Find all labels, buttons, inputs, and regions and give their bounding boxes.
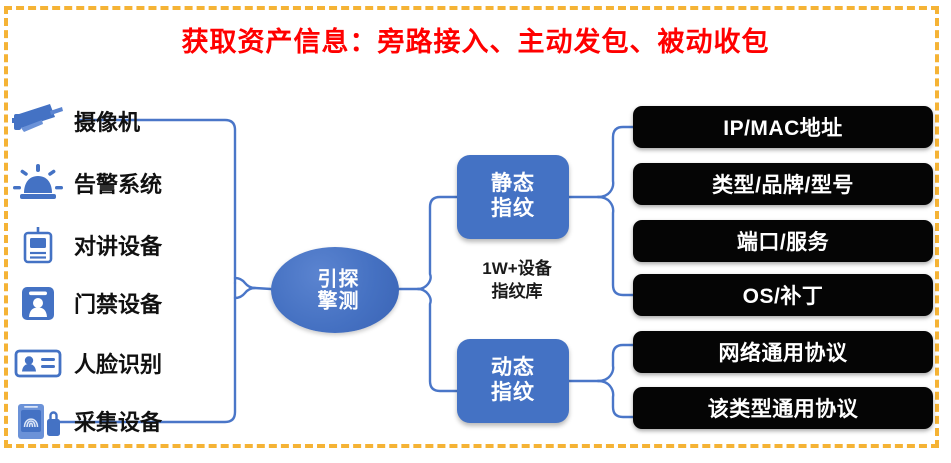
source-label: 人脸识别 xyxy=(74,347,162,379)
attribute-box-port-service[interactable]: 端口/服务 xyxy=(633,220,933,262)
attribute-box-type-protocol[interactable]: 该类型通用协议 xyxy=(633,387,933,429)
wire-trunk-to-engine-lower xyxy=(235,288,255,298)
fingerprint-library-caption: 1W+设备 指纹库 xyxy=(452,258,582,304)
source-label: 摄像机 xyxy=(74,105,140,137)
diagram-canvas: 获取资产信息：旁路接入、主动发包、被动收包 xyxy=(0,0,951,463)
wire-static-branch-down xyxy=(598,197,633,295)
attribute-box-os-patch[interactable]: OS/补丁 xyxy=(633,274,933,316)
wire-trunk-to-engine xyxy=(235,278,271,289)
detection-engine-node[interactable]: 探测引擎 xyxy=(271,247,399,333)
source-row-camera[interactable]: 摄像机 xyxy=(10,96,225,146)
source-row-access-control[interactable]: 门禁设备 xyxy=(10,278,225,328)
source-label: 采集设备 xyxy=(74,405,162,437)
source-label: 告警系统 xyxy=(74,167,162,199)
wire-split-lower xyxy=(418,289,457,391)
dynamic-fingerprint-line-1: 动态 xyxy=(491,356,535,381)
detection-engine-label: 探测引擎 xyxy=(314,267,356,313)
wire-dynamic-branch-down xyxy=(598,381,633,417)
source-row-intercom[interactable]: 对讲设备 xyxy=(10,220,225,270)
face-recognition-icon xyxy=(10,340,66,386)
static-fingerprint-line-2: 指纹 xyxy=(491,197,535,222)
diagram-title: 获取资产信息：旁路接入、主动发包、被动收包 xyxy=(0,20,951,59)
source-row-face-recognition[interactable]: 人脸识别 xyxy=(10,338,225,388)
dynamic-fingerprint-node[interactable]: 动态 指纹 xyxy=(457,339,569,423)
static-fingerprint-line-1: 静态 xyxy=(491,172,535,197)
source-label: 门禁设备 xyxy=(74,287,162,319)
static-fingerprint-node[interactable]: 静态 指纹 xyxy=(457,155,569,239)
source-row-alarm[interactable]: 告警系统 xyxy=(10,158,225,208)
dynamic-fingerprint-line-2: 指纹 xyxy=(491,381,535,406)
caption-line-1: 1W+设备 xyxy=(452,258,582,281)
wire-static-branch-up xyxy=(598,127,633,197)
attribute-box-type-brand-model[interactable]: 类型/品牌/型号 xyxy=(633,163,933,205)
intercom-device-icon xyxy=(10,222,66,268)
alarm-siren-icon xyxy=(10,160,66,206)
attribute-box-ip-mac[interactable]: IP/MAC地址 xyxy=(633,106,933,148)
access-control-icon xyxy=(10,280,66,326)
source-row-collection-device[interactable]: 采集设备 xyxy=(10,396,225,446)
attribute-box-network-protocol[interactable]: 网络通用协议 xyxy=(633,331,933,373)
collection-device-icon xyxy=(10,398,66,444)
caption-line-2: 指纹库 xyxy=(452,281,582,304)
source-label: 对讲设备 xyxy=(74,229,162,261)
cctv-camera-icon xyxy=(10,98,66,144)
wire-dynamic-branch-up xyxy=(598,345,633,381)
